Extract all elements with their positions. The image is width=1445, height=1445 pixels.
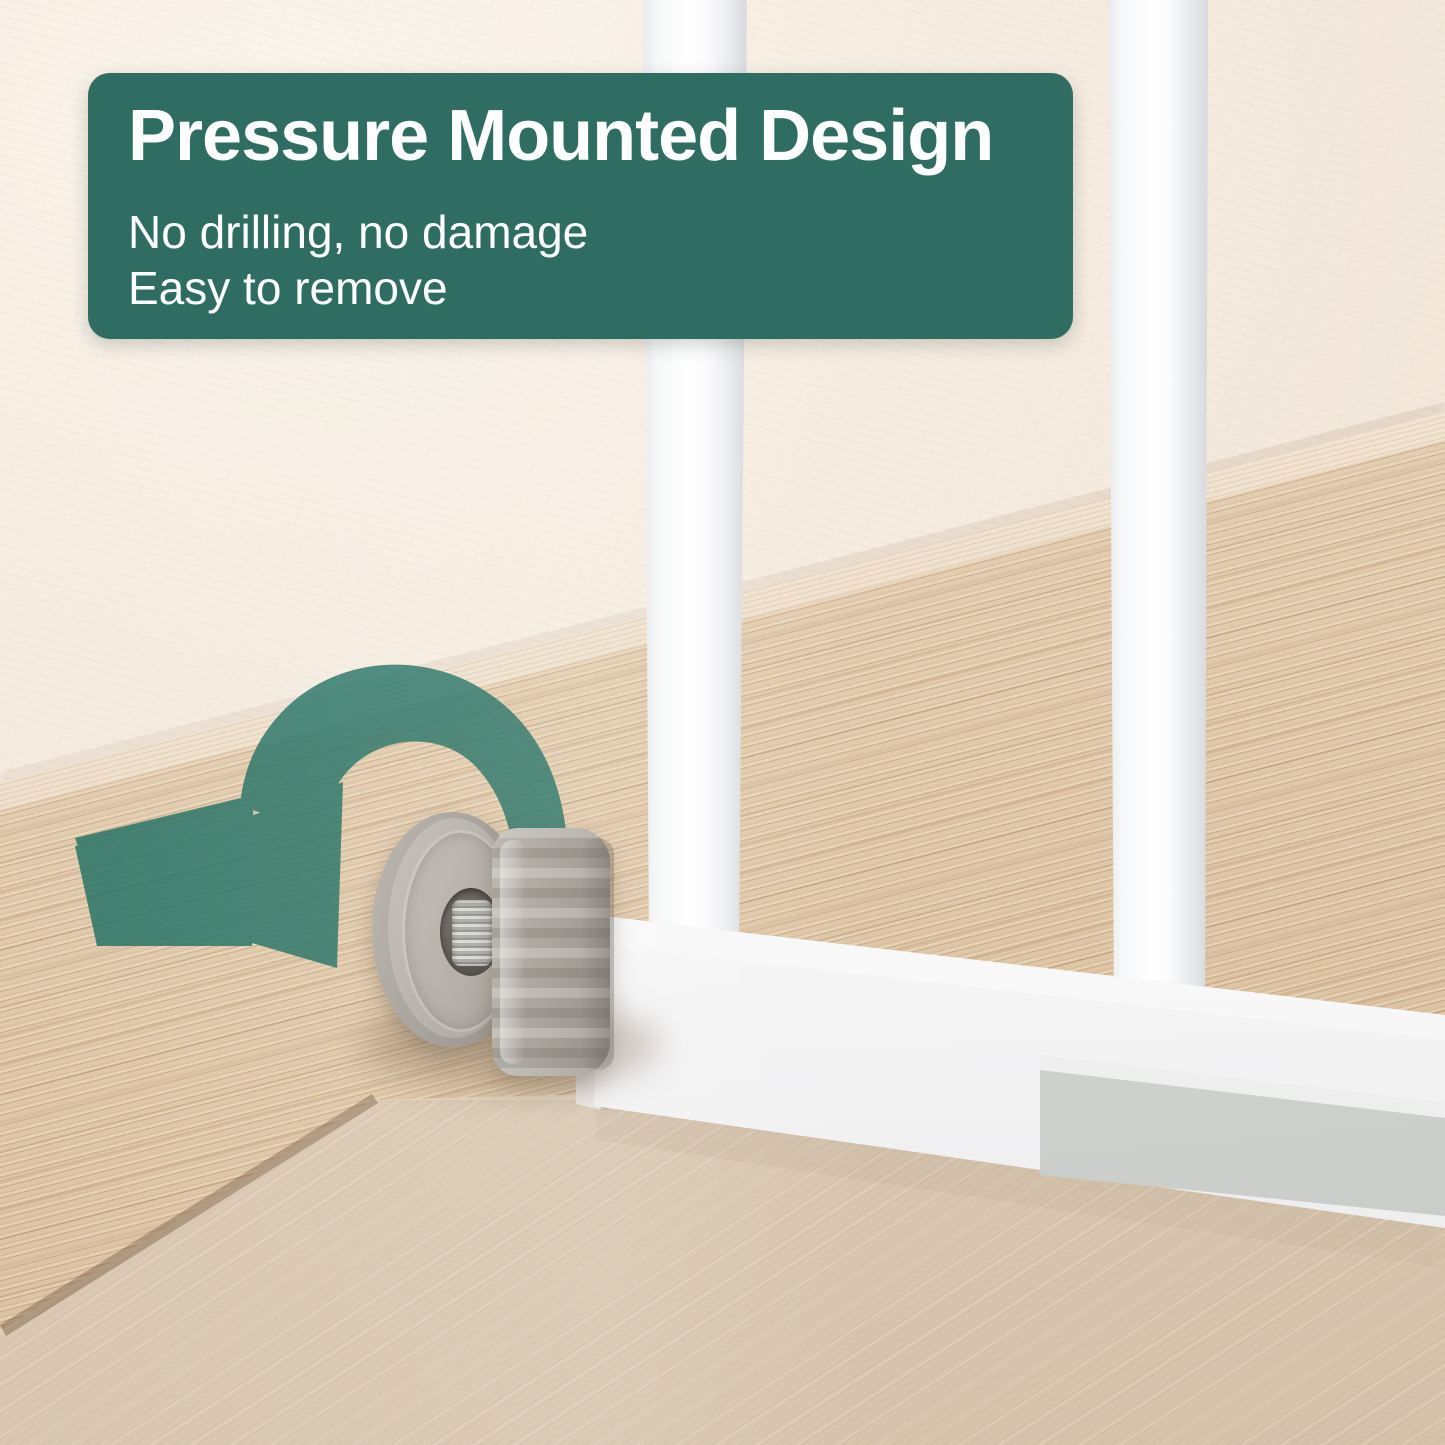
tension-knob-highlight — [500, 840, 526, 1064]
tension-knob-shadow-edge — [580, 838, 614, 1070]
threaded-bolt — [452, 900, 492, 966]
badge-title: Pressure Mounted Design — [128, 99, 993, 175]
product-marketing-image: Pressure Mounted Design No drilling, no … — [0, 0, 1445, 1445]
vertical-bar-right — [1108, 0, 1208, 1012]
badge-subtitle-line-2: Easy to remove — [128, 265, 448, 311]
badge-subtitle-line-1: No drilling, no damage — [128, 209, 588, 255]
feature-callout-badge: Pressure Mounted Design No drilling, no … — [88, 73, 1073, 339]
